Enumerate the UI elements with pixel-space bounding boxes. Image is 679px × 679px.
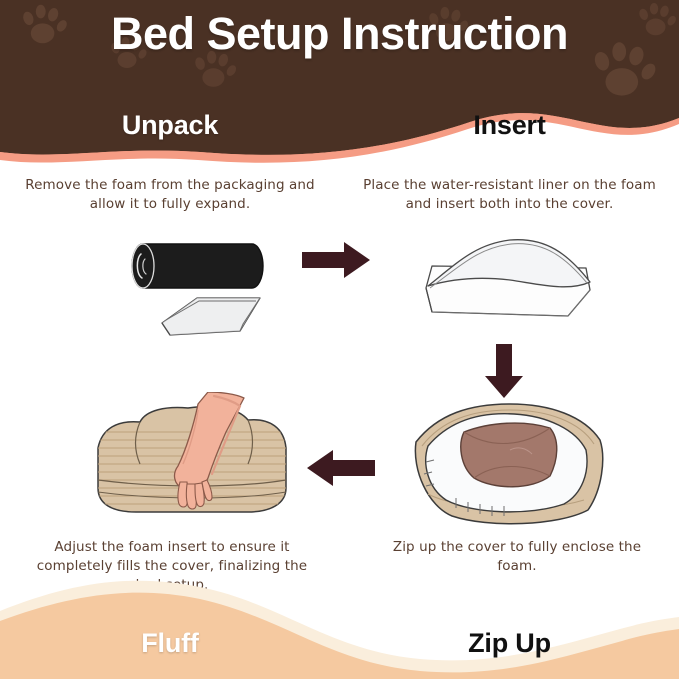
step-caption-unpack: Remove the foam from the packaging and a… [14,176,326,214]
footer-wave-graphic [0,559,679,679]
illustration-foam-with-liner [418,232,598,342]
step-label-fluff: Fluff [0,628,340,659]
white-foam-block-icon [426,240,590,316]
arrow-down-icon [482,342,526,400]
brown-cushion [461,423,557,487]
flat-liner-sheet-icon [162,298,260,335]
step-caption-insert: Place the water-resistant liner on the f… [352,176,667,214]
arrow-right-icon [300,238,372,282]
illustration-fluffing-bed [88,392,300,524]
illustration-zip-cover [398,398,618,530]
bed-setup-infographic: Bed Setup Instruction Unpack Insert Fluf… [0,0,679,679]
step-label-unpack: Unpack [0,110,340,141]
rolled-foam-icon [132,244,263,288]
illustration-rolled-foam-and-sheet [100,228,300,348]
header-band: Bed Setup Instruction [0,0,679,172]
arrow-left-icon [305,446,377,490]
step-label-insert: Insert [340,110,679,141]
step-label-zipup: Zip Up [340,628,679,659]
footer-band [0,559,679,679]
page-title: Bed Setup Instruction [0,10,679,57]
